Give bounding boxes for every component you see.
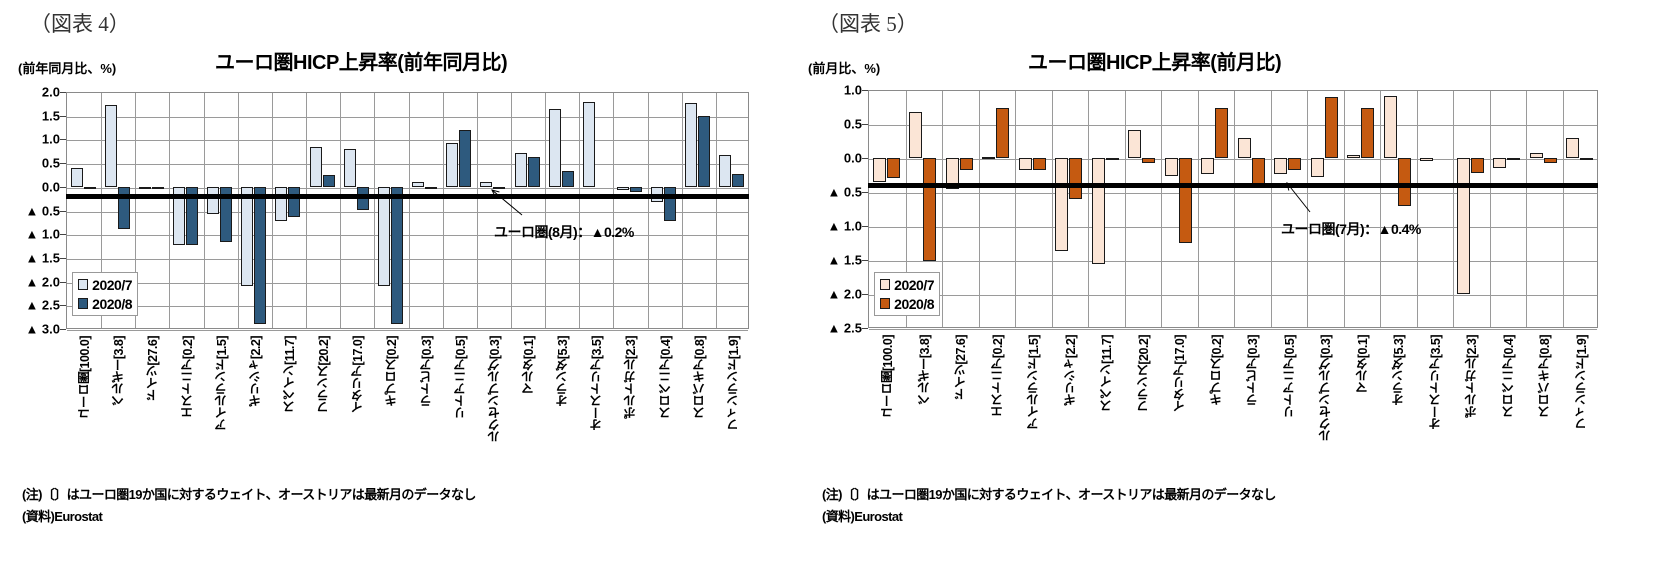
x-axis-category-label: マルタ[0.1] — [1353, 335, 1372, 394]
x-axis-category-label: オーストリア[3.5] — [1426, 335, 1445, 430]
x-axis-category-label: ルクセンブルグ[0.3] — [1316, 335, 1335, 442]
x-axis-category-label: リトアニア[0.5] — [451, 336, 470, 419]
figure-4-panel: （図表 4）(前年同月比、%)ユーロ圏HICP上昇率(前年同月比)2.01.51… — [0, 0, 800, 586]
x-axis-category-label: ポルトガル[2.3] — [1462, 335, 1481, 418]
x-axis-category-label: スロバキア[0.8] — [690, 336, 709, 419]
x-axis-category-label: ユーロ圏[100.0] — [878, 335, 897, 419]
x-axis-category-label: ベルギー[3.8] — [109, 336, 128, 407]
chart-note-source: (資料)Eurostat — [822, 506, 902, 525]
chart-note-weights: (注)〔〕はユーロ圏19か国に対するウェイト、オーストリアは最新月のデータなし — [22, 484, 476, 503]
figure-5-panel: （図表 5）(前月比、%)ユーロ圏HICP上昇率(前月比)1.00.50.0▲ … — [800, 0, 1672, 586]
x-axis-category-label: ポルトガル[2.3] — [621, 336, 640, 419]
x-axis-category-label: スロバキア[0.8] — [1535, 335, 1554, 418]
x-axis-category-label: アイルランド[1.5] — [212, 336, 231, 431]
x-axis-category-label: フランス[20.2] — [1134, 335, 1153, 413]
chart-note-source: (資料)Eurostat — [22, 506, 102, 525]
x-axis-category-label: キプロス[0.2] — [1207, 335, 1226, 406]
x-axis-category-label: オランダ[5.3] — [1389, 335, 1408, 406]
x-axis-category-label: リトアニア[0.5] — [1280, 335, 1299, 418]
x-axis-category-label: ドイツ[27.6] — [951, 335, 970, 401]
x-axis-category-label: フィンランド[1.9] — [1572, 335, 1591, 430]
x-axis-category-label: ベルギー[3.8] — [915, 335, 934, 406]
x-axis-category-label: スロベニア[0.4] — [656, 336, 675, 419]
x-axis-category-label: ラトビア[0.3] — [417, 336, 436, 407]
x-axis-category-label: オランダ[5.3] — [553, 336, 572, 407]
x-axis-category-label: アイルランド[1.5] — [1024, 335, 1043, 430]
x-axis-category-label: フランス[20.2] — [314, 336, 333, 414]
x-axis-category-label: フィンランド[1.9] — [724, 336, 743, 431]
x-axis-category-label: エストニア[0.2] — [988, 335, 1007, 418]
x-axis-category-label: エストニア[0.2] — [178, 336, 197, 419]
x-axis-category-label: スペイン[11.7] — [280, 336, 299, 413]
x-axis-category-label: スペイン[11.7] — [1097, 335, 1116, 412]
x-axis-category-label: ドイツ[27.6] — [143, 336, 162, 402]
x-axis-category-label: イタリア[17.0] — [348, 336, 367, 414]
x-axis-category-label: ルクセンブルグ[0.3] — [485, 336, 504, 443]
x-axis-category-label: オーストリア[3.5] — [587, 336, 606, 431]
x-axis-category-label: イタリア[17.0] — [1170, 335, 1189, 413]
x-axis-category-label: ユーロ圏[100.0] — [75, 336, 94, 420]
x-axis-category-label: マルタ[0.1] — [519, 336, 538, 395]
x-axis-category-label: ラトビア[0.3] — [1243, 335, 1262, 406]
chart-note-weights: (注)〔〕はユーロ圏19か国に対するウェイト、オーストリアは最新月のデータなし — [822, 484, 1276, 503]
x-axis-category-label: キプロス[0.2] — [382, 336, 401, 407]
x-axis-category-label: ギリシャ[2.2] — [1061, 335, 1080, 406]
x-axis-category-label: ギリシャ[2.2] — [246, 336, 265, 407]
x-axis-category-label: スロベニア[0.4] — [1499, 335, 1518, 418]
